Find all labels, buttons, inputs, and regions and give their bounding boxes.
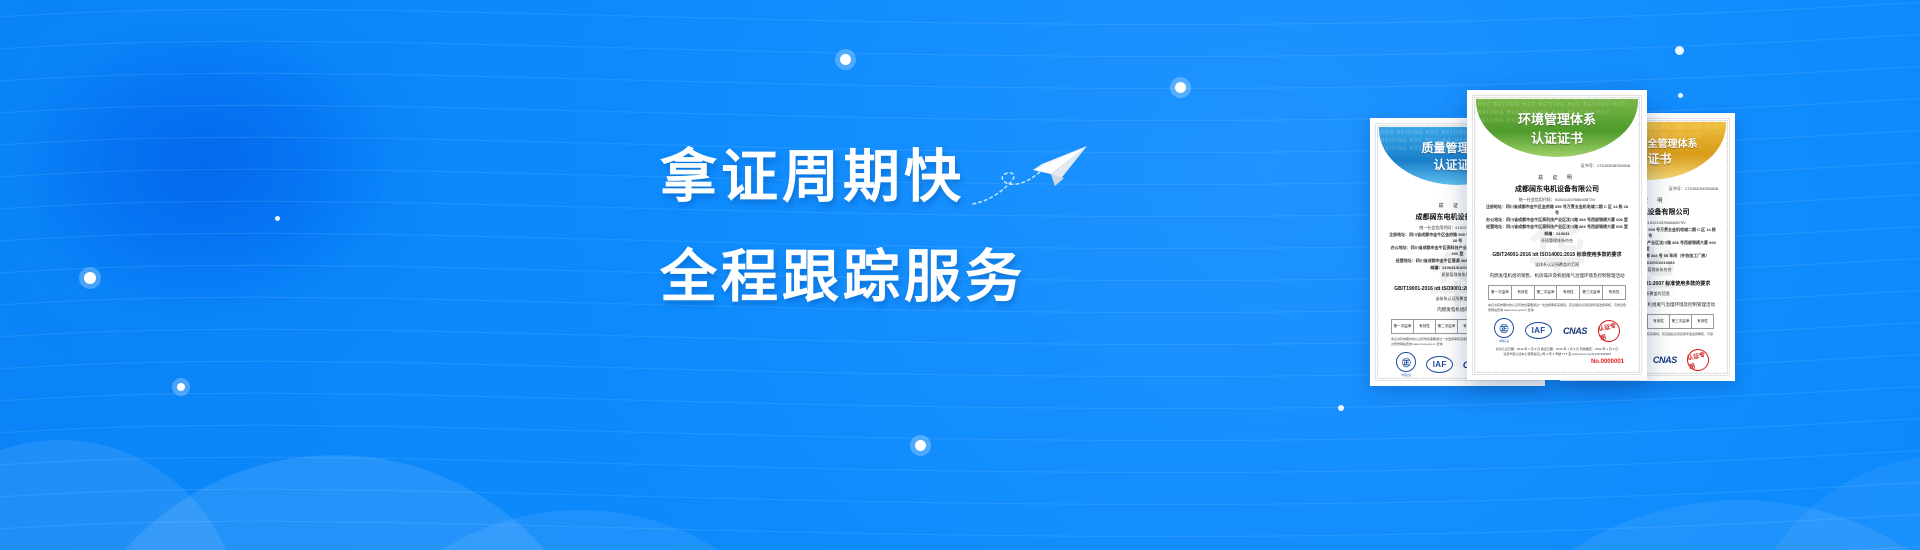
postal-code: 邮编：610031 — [1484, 231, 1630, 237]
cnas-icon: CNAS — [1653, 355, 1677, 365]
certificate-title-line1: 环境管理体系 — [1518, 109, 1596, 128]
scope-label: 该体系认证所覆盖的范围 — [1484, 262, 1630, 268]
certificate-standard: GB/T24001-2016 idt ISO14001:2015 标准使用多款的… — [1484, 251, 1630, 258]
promo-banner: 拿证周期快 全程跟踪服务 HXC BEIJING HXC BEIJING HXC… — [0, 0, 1920, 550]
paper-plane-icon — [971, 140, 1091, 214]
red-seal-icon: 认证专用 — [1596, 317, 1622, 343]
headline-line-2: 全程跟踪服务 — [660, 240, 1280, 314]
accreditation-logos: ㊣ 中国认证 IAF CNAS 认证专用 — [1484, 312, 1630, 345]
address-office: 办公地址：四川省成都市金牛区高科技产业区沈川路 866 号西部锦绣大厦 606 … — [1484, 217, 1630, 223]
cn-mark-icon: ㊣ 中国认证 — [1494, 318, 1514, 343]
credit-code: 统一社会信用代码：91510100766640873V — [1484, 197, 1630, 203]
cnas-icon: CNAS — [1563, 326, 1587, 336]
certificate-serial: No.0000001 — [1484, 358, 1630, 368]
certificate-title-line2: 认证证书 — [1531, 128, 1583, 147]
certificate-environment[interactable]: HXC BEIJING HXC BEIJING HXC BEIJING HXC … — [1467, 90, 1647, 380]
headline-line-1: 拿证周期快 — [660, 140, 965, 214]
iaf-icon: IAF — [1426, 356, 1453, 373]
headline-block: 拿证周期快 全程跟踪服务 — [660, 140, 1280, 314]
address-registered: 注册地址：四川省成都市金牛区金府路 555 号万贯五金机电城二期 C 区 14 … — [1484, 204, 1630, 216]
certificate-fineprint: 本证书有效期内的认证有效性需要通过一次监督审核来保持，获证组织必须接受年度监督审… — [1484, 303, 1630, 312]
certificate-dates: 初次认证日期：2019 年 1 月 9 日 换证日期：2019 年 1 月 9 … — [1484, 345, 1630, 358]
certificate-company: 成都阔东电机设备有限公司 — [1484, 184, 1630, 194]
certificate-number: 证书号：171002EMS02608 — [1484, 163, 1630, 169]
certificate-scope: 内燃发电机组的销售、机房噪声及机组尾气治理环境及控制管理活动 — [1484, 272, 1630, 279]
iaf-icon: IAF — [1525, 322, 1552, 339]
certificate-group: HXC BEIJING HXC BEIJING HXC BEIJING HXC … — [1370, 78, 1910, 398]
certificate-ribbon: HXC BEIJING HXC BEIJING HXC BEIJING HXC … — [1476, 99, 1638, 157]
system-label: 环境管理体系符合 — [1484, 238, 1630, 244]
cn-mark-icon: ㊣ 中国认证 — [1396, 352, 1416, 377]
certify-label: 兹 证 明 — [1484, 174, 1630, 181]
audit-table: 第一次监审 有效性 第二次监审 有效性 第三次监审 有效性 — [1488, 285, 1626, 300]
red-seal-icon: 认证专用 — [1685, 346, 1711, 372]
address-production: 经营地址：四川省成都市金牛区高科技产业区沈川路 866 号西部锦绣大厦 606 … — [1484, 224, 1630, 230]
